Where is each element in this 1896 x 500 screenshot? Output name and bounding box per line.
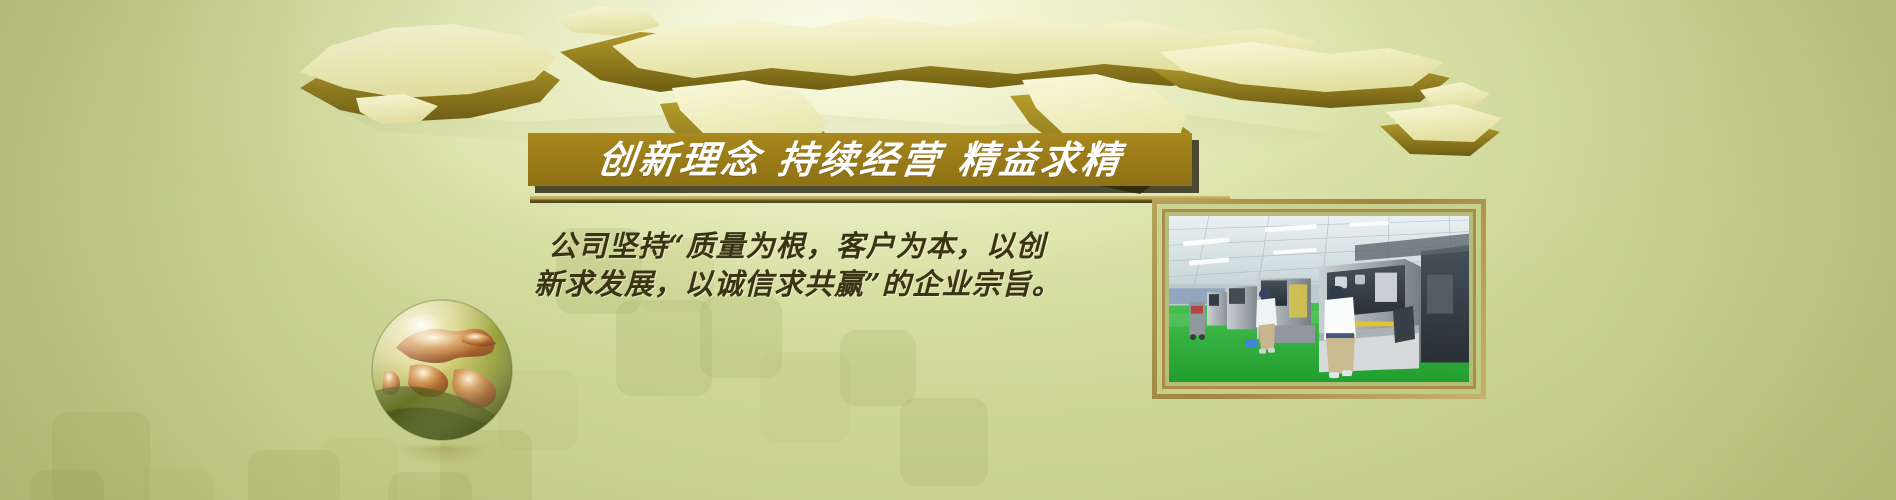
- globe-graphic: [366, 296, 542, 500]
- frame-inner-gap: [1157, 204, 1481, 394]
- subtitle-block: 公司坚持“质量为根，客户为本，以创 新求发展，以诚信求共赢”的企业宗旨。: [548, 228, 1168, 303]
- headline-text: 创新理念 持续经营 精益求精: [595, 141, 1124, 179]
- subtitle-line-2: 新求发展，以诚信求共赢”的企业宗旨。: [534, 266, 1168, 304]
- company-banner: 创新理念 持续经营 精益求精 公司坚持“质量为根，客户为本，以创 新求发展，以诚…: [0, 0, 1896, 500]
- watermark-square: [30, 470, 104, 500]
- watermark-square: [900, 398, 988, 486]
- world-map-3d: [0, 0, 1896, 224]
- watermark-square: [118, 468, 214, 500]
- subtitle-line-1: 公司坚持“质量为根，客户为本，以创: [548, 228, 1168, 266]
- gold-rule: [530, 196, 1230, 203]
- globe-reflection: [380, 446, 506, 494]
- frame-inner-rule: [1162, 209, 1476, 389]
- factory-floor-photo: [1169, 216, 1469, 382]
- factory-photo-art: [1169, 216, 1469, 382]
- photo-frame: [1152, 199, 1486, 399]
- watermark-square: [840, 330, 916, 406]
- headline-band: 创新理念 持续经营 精益求精: [528, 133, 1192, 186]
- watermark-square: [760, 352, 850, 442]
- globe-3d-icon: [366, 296, 518, 448]
- watermark-square: [616, 300, 712, 396]
